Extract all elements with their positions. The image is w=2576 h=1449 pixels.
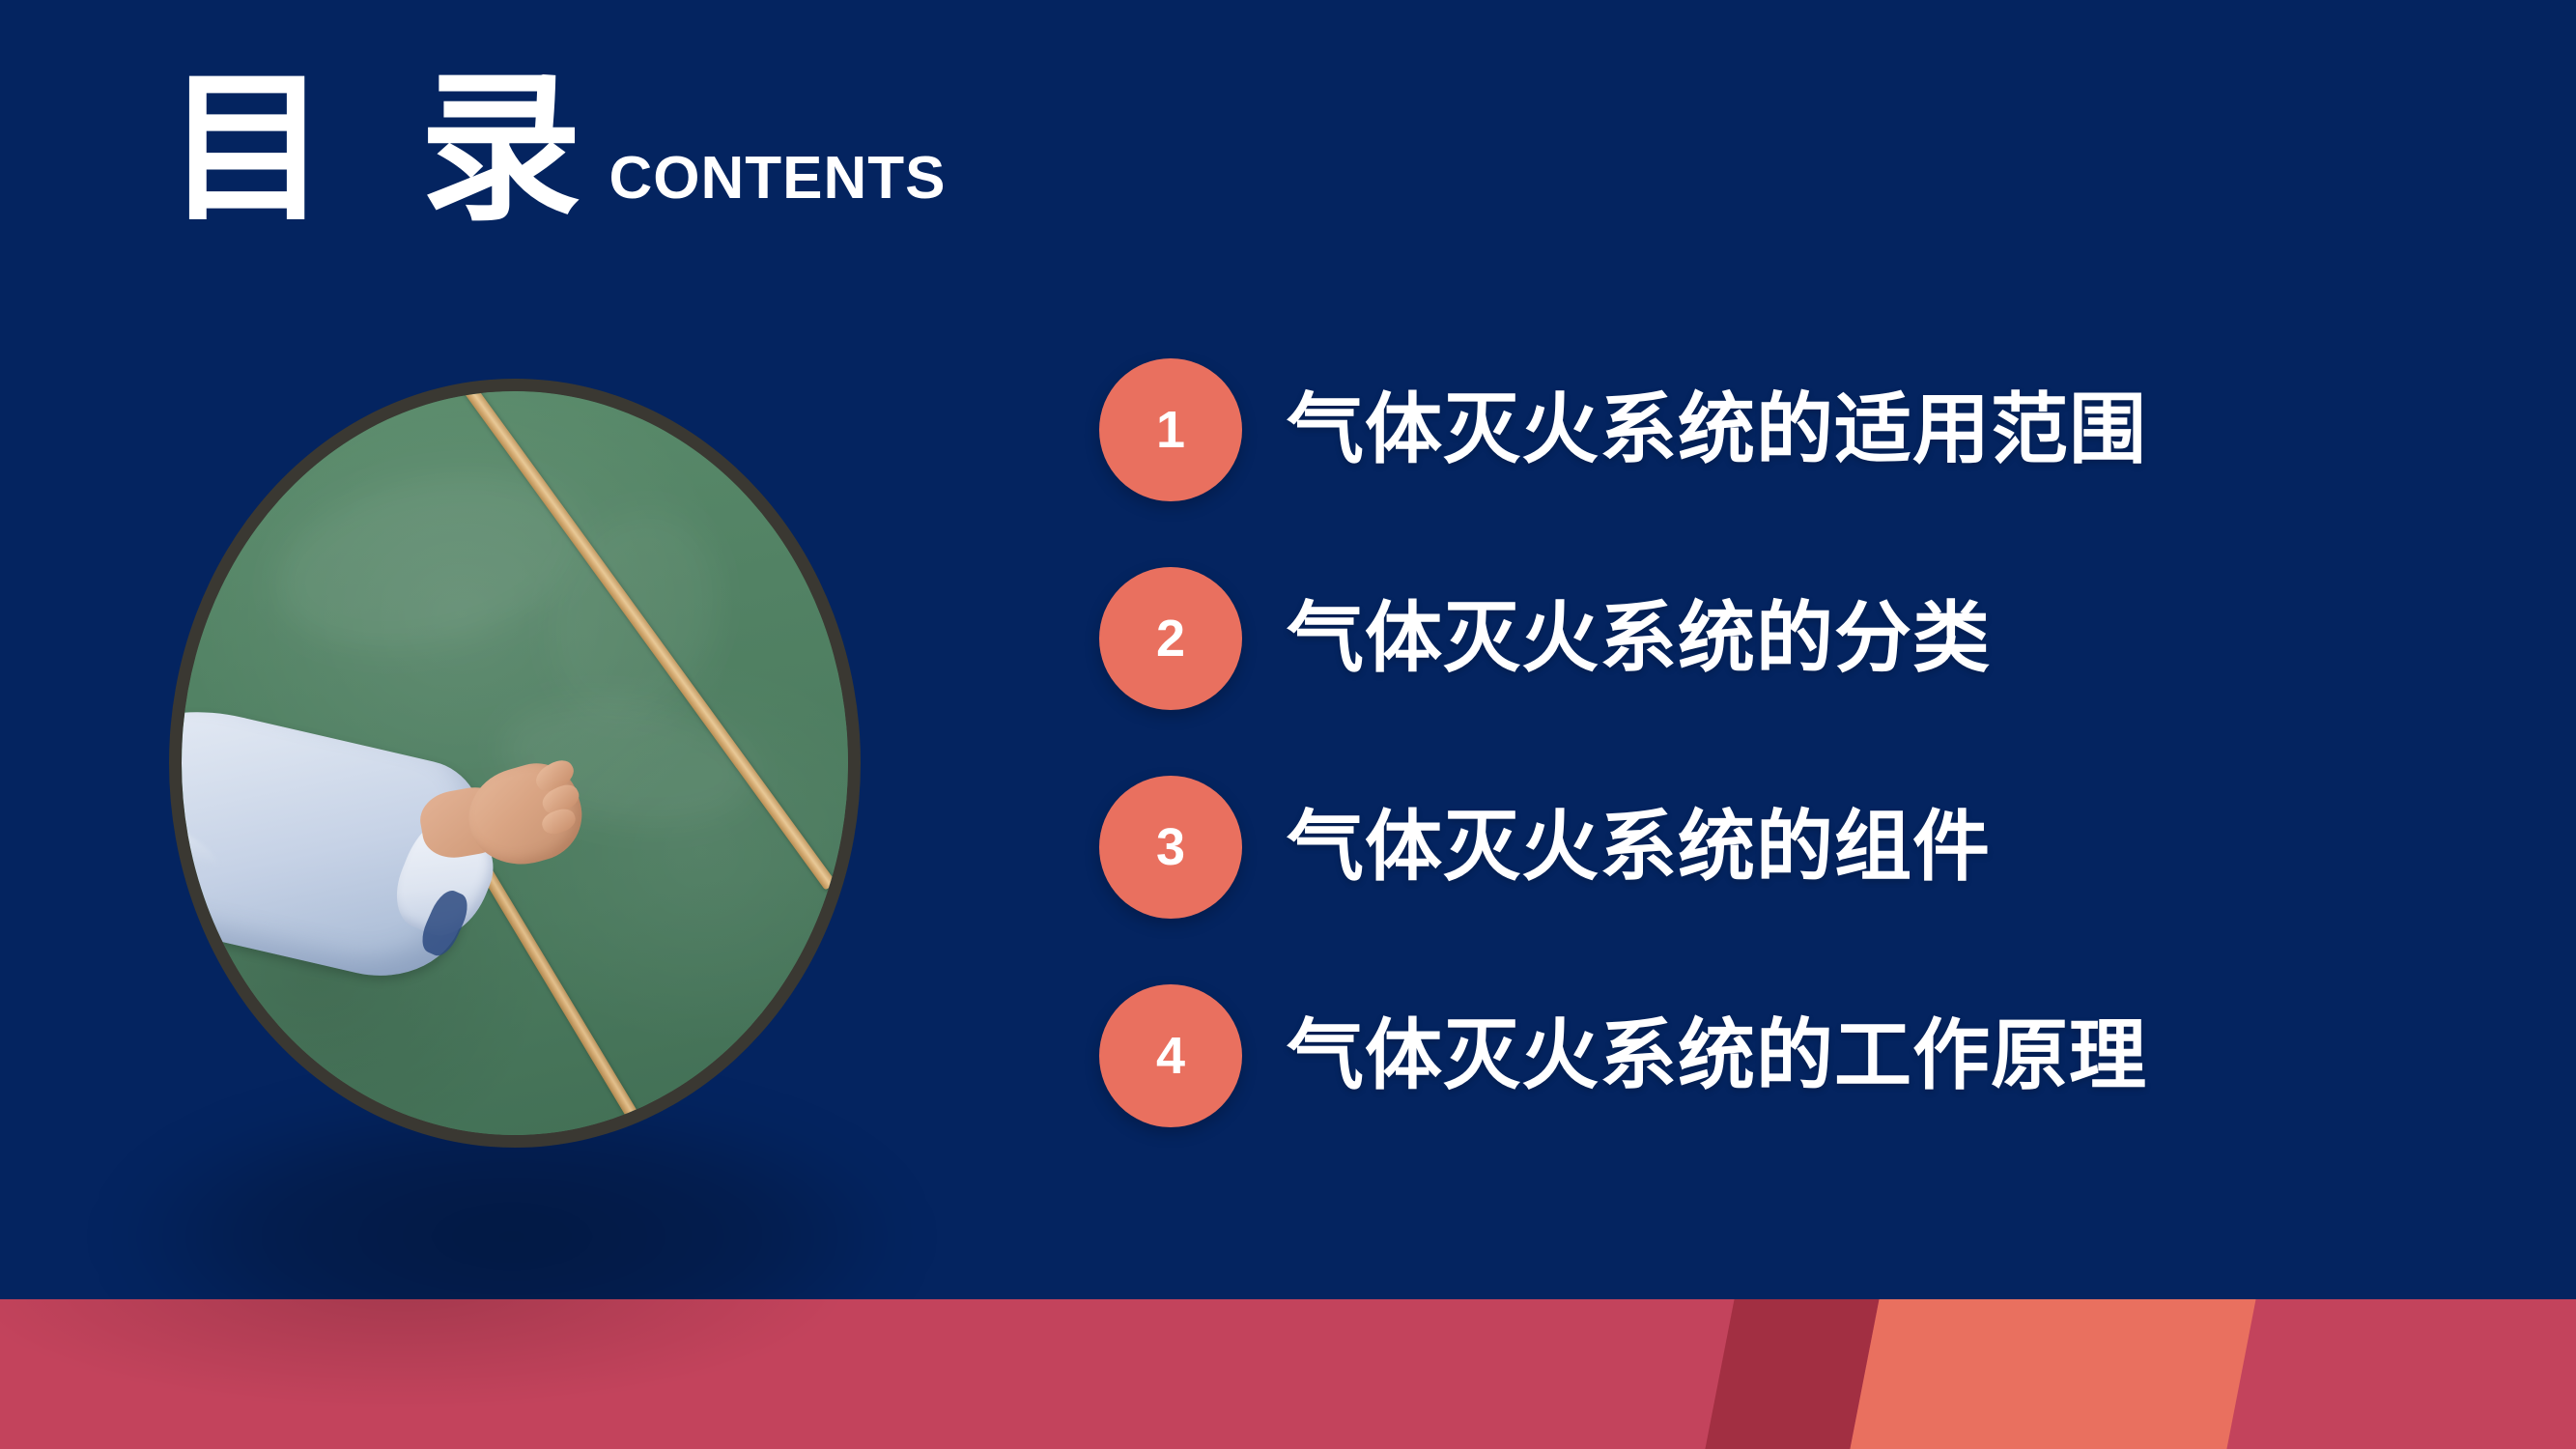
- contents-number-badge-1: 1: [1099, 358, 1242, 501]
- page-title: 目 录 CONTENTS: [166, 68, 947, 230]
- title-chinese: 目 录: [166, 68, 600, 230]
- contents-list: 1 气体灭火系统的适用范围 2 气体灭火系统的分类 3 气体灭火系统的组件 4 …: [1099, 357, 2480, 1128]
- chalkboard-photo: [169, 379, 861, 1148]
- contents-item-4[interactable]: 4 气体灭火系统的工作原理: [1099, 983, 2480, 1128]
- contents-item-2[interactable]: 2 气体灭火系统的分类: [1099, 566, 2480, 711]
- sleeve-fold: [182, 784, 224, 878]
- contents-item-label-1: 气体灭火系统的适用范围: [1287, 391, 2147, 469]
- contents-item-1[interactable]: 1 气体灭火系统的适用范围: [1099, 357, 2480, 502]
- band-stripe-light: [1844, 1299, 2262, 1449]
- contents-item-label-3: 气体灭火系统的组件: [1287, 809, 1991, 886]
- contents-item-3[interactable]: 3 气体灭火系统的组件: [1099, 775, 2480, 920]
- contents-item-label-4: 气体灭火系统的工作原理: [1287, 1017, 2147, 1094]
- contents-slide: 目 录 CONTENTS 1 气体灭: [0, 0, 2576, 1449]
- band-shadow: [0, 1299, 1062, 1449]
- contents-number-badge-2: 2: [1099, 567, 1242, 710]
- contents-item-label-2: 气体灭火系统的分类: [1287, 600, 1991, 677]
- title-english: CONTENTS: [609, 149, 947, 209]
- bottom-decorative-band: [0, 1299, 2576, 1449]
- contents-number-badge-3: 3: [1099, 776, 1242, 919]
- photo-clip: [182, 391, 848, 1135]
- contents-number-badge-4: 4: [1099, 984, 1242, 1127]
